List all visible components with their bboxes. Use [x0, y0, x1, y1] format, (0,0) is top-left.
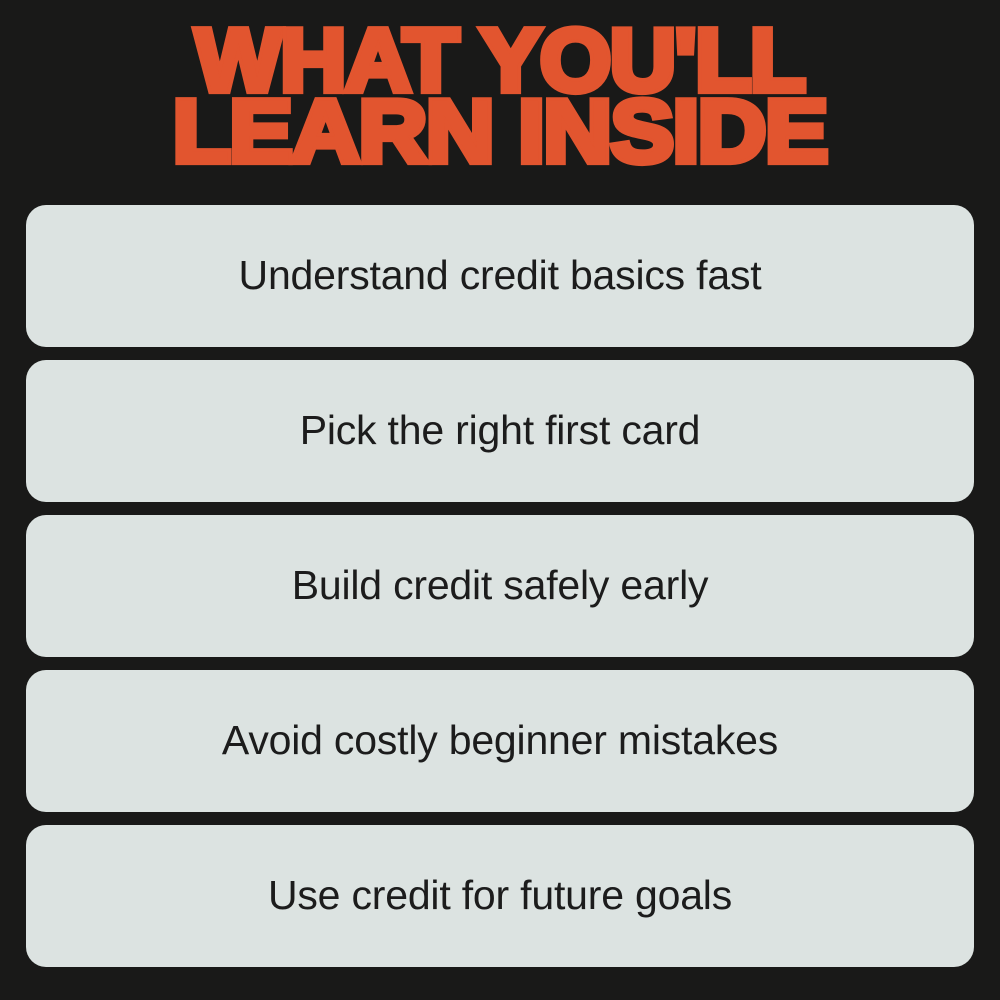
list-item[interactable]: Build credit safely early: [26, 515, 974, 657]
list-item[interactable]: Avoid costly beginner mistakes: [26, 670, 974, 812]
poster-canvas: WHAT YOU'LL LEARN INSIDE Understand cred…: [0, 0, 1000, 1000]
list-item[interactable]: Understand credit basics fast: [26, 205, 974, 347]
title-line-two: LEARN INSIDE: [0, 97, 1000, 167]
page-title: WHAT YOU'LL LEARN INSIDE: [0, 26, 1000, 166]
list-item-label: Pick the right first card: [300, 408, 701, 453]
list-item-label: Build credit safely early: [292, 563, 709, 608]
learning-points-list: Understand credit basics fast Pick the r…: [26, 205, 974, 967]
list-item-label: Use credit for future goals: [268, 873, 732, 918]
list-item-label: Avoid costly beginner mistakes: [222, 718, 778, 763]
list-item[interactable]: Pick the right first card: [26, 360, 974, 502]
list-item[interactable]: Use credit for future goals: [26, 825, 974, 967]
list-item-label: Understand credit basics fast: [239, 253, 762, 298]
